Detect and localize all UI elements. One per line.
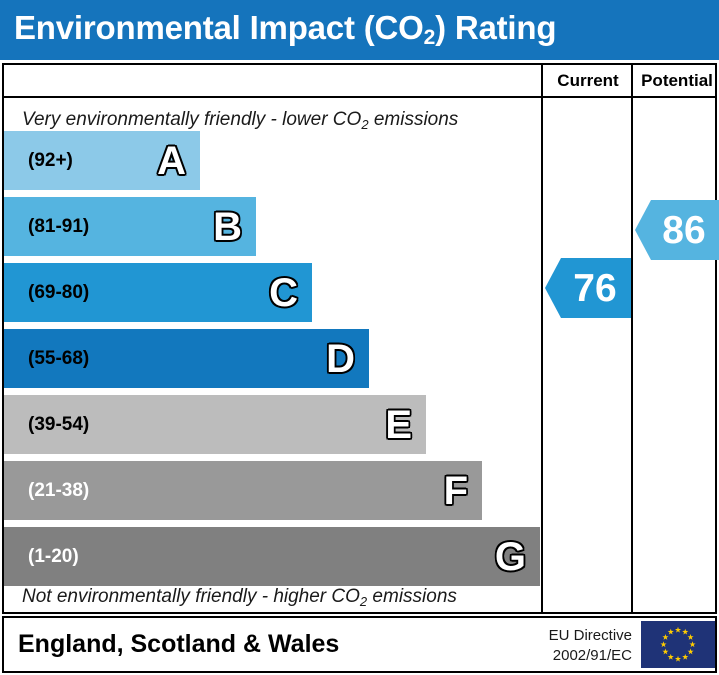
band-range-label-f: (21-38) [28, 480, 89, 502]
band-letter-c: C [269, 273, 298, 313]
footer-eu-directive: EU Directive 2002/91/EC [524, 626, 632, 667]
band-range-label-e: (39-54) [28, 414, 89, 436]
band-letter-f: F [444, 471, 468, 511]
rating-band-f: (21-38)F [4, 461, 482, 520]
chart-footer: England, Scotland & Wales EU Directive 2… [2, 616, 717, 673]
rating-band-d: (55-68)D [4, 329, 369, 388]
band-letter-g: G [495, 537, 526, 577]
caption-bottom-main: Not environmentally friendly - higher CO [22, 586, 360, 607]
band-letter-e: E [385, 405, 412, 445]
caption-bottom-subscript: 2 [360, 594, 367, 609]
rating-band-b: (81-91)B [4, 197, 256, 256]
epc-environmental-impact-chart: Environmental Impact (CO2) Rating Curren… [0, 0, 719, 675]
column-header-potential: Potential [633, 71, 719, 91]
band-range-label-b: (81-91) [28, 216, 89, 238]
rating-bands: (92+)A(81-91)B(69-80)C(55-68)D(39-54)E(2… [4, 65, 541, 612]
potential-rating-marker: 86 [635, 200, 719, 260]
band-range-label-d: (55-68) [28, 348, 89, 370]
footer-directive-line1: EU Directive [524, 626, 632, 646]
column-header-current: Current [543, 71, 633, 91]
page-title-main: Environmental Impact (CO [14, 9, 424, 46]
footer-region-label: England, Scotland & Wales [18, 630, 339, 659]
rating-band-a: (92+)A [4, 131, 200, 190]
column-divider-current [541, 65, 543, 612]
footer-directive-line2: 2002/91/EC [524, 646, 632, 666]
potential-rating-value: 86 [648, 211, 705, 250]
page-title-tail: ) Rating [435, 9, 556, 46]
band-letter-d: D [326, 339, 355, 379]
eu-flag-icon [641, 621, 715, 668]
page-title-subscript: 2 [424, 26, 435, 49]
page-title: Environmental Impact (CO2) Rating [14, 9, 556, 47]
rating-band-e: (39-54)E [4, 395, 426, 454]
rating-band-g: (1-20)G [4, 527, 540, 586]
band-range-label-a: (92+) [28, 150, 73, 172]
band-letter-a: A [157, 141, 186, 181]
caption-not-friendly: Not environmentally friendly - higher CO… [22, 586, 457, 608]
band-range-label-c: (69-80) [28, 282, 89, 304]
band-range-label-g: (1-20) [28, 546, 79, 568]
band-letter-b: B [213, 207, 242, 247]
current-rating-marker: 76 [545, 258, 631, 318]
caption-bottom-tail: emissions [367, 586, 457, 607]
current-rating-value: 76 [559, 269, 616, 308]
chart-header: Environmental Impact (CO2) Rating [0, 0, 719, 60]
column-divider-potential [631, 65, 633, 612]
chart-body: Current Potential Very environmentally f… [2, 63, 717, 614]
rating-band-c: (69-80)C [4, 263, 312, 322]
